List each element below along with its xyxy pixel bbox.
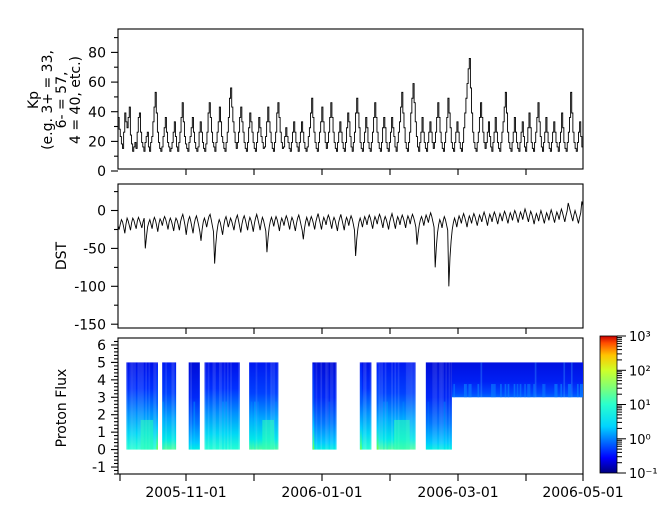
xtick-2006-01-01: 2006-01-01 [281, 485, 362, 501]
kp-ytick-40: 40 [88, 105, 106, 121]
colorbar-gradient [600, 336, 617, 473]
pf-ytick-2: 2 [97, 408, 106, 424]
dst-ytick-m150: -150 [74, 317, 106, 333]
kp-ytick-60: 60 [88, 75, 106, 91]
colorbar-label-3: 10⁰ [629, 433, 651, 448]
figure-canvas: 80 60 40 20 0 Kp (e.g. 3+ = 33, 6- = 57,… [0, 0, 665, 523]
dst-ytick-m50: -50 [83, 242, 106, 258]
kp-ytick-0: 0 [97, 164, 106, 180]
pf-ytick-1: 1 [97, 425, 106, 441]
pf-ytick-5: 5 [97, 355, 106, 371]
pf-ytick-0: 0 [97, 443, 106, 459]
xtick-2006-05-01: 2006-05-01 [542, 485, 623, 501]
kp-ytick-80: 80 [88, 46, 106, 62]
colorbar-label-0: 10³ [629, 330, 651, 345]
kp-ylabel-line-4: 4 = 40, etc.) [68, 56, 84, 144]
pf-ytick-6: 6 [97, 338, 106, 354]
colorbar-label-4: 10⁻¹ [629, 467, 658, 482]
pf-ytick--1: -1 [92, 460, 106, 476]
pf-ylabel: Proton Flux [54, 369, 70, 448]
xtick-2005-11-01: 2005-11-01 [145, 485, 226, 501]
plot-svg: 80 60 40 20 0 Kp (e.g. 3+ = 33, 6- = 57,… [0, 0, 665, 523]
xtick-2006-03-01: 2006-03-01 [417, 485, 498, 501]
kp-ytick-20: 20 [88, 135, 106, 151]
dst-ytick-0: 0 [97, 204, 106, 220]
colorbar-label-1: 10² [629, 364, 651, 379]
colorbar-label-2: 10¹ [629, 399, 651, 414]
pf-ytick-4: 4 [97, 373, 106, 389]
pf-ytick-3: 3 [97, 390, 106, 406]
dst-ylabel: DST [54, 241, 70, 270]
dst-ytick-m100: -100 [74, 279, 106, 295]
